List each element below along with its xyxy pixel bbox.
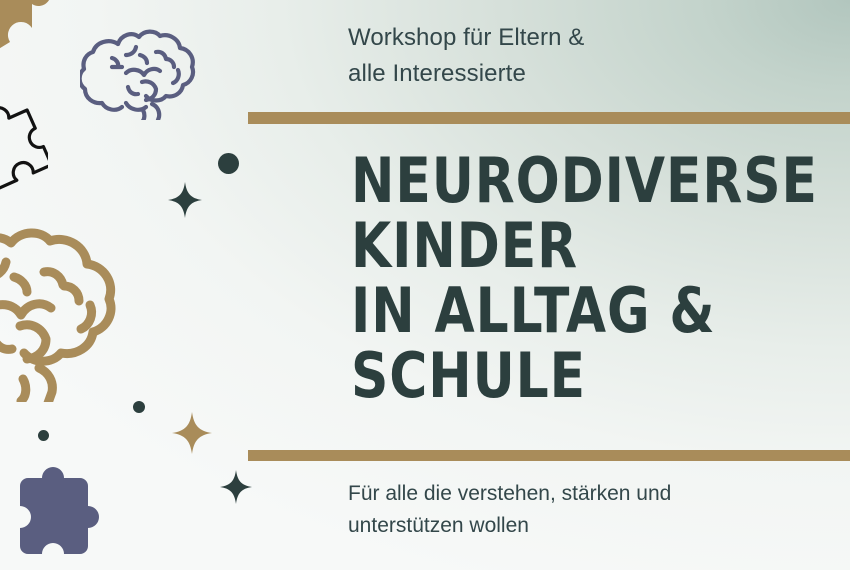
page-title: NEURODIVERSE KINDER IN ALLTAG & SCHULE [351, 148, 816, 408]
title-line-2: KINDER [351, 213, 816, 278]
title-line-1: NEURODIVERSE [351, 148, 816, 213]
eyebrow-line-1: Workshop für Eltern & [348, 20, 768, 56]
eyebrow-text: Workshop für Eltern & alle Interessierte [348, 20, 768, 92]
subtitle-line-1: Für alle die verstehen, stärken und [348, 478, 788, 510]
brain-outline-purple [80, 22, 210, 120]
poster-canvas: Workshop für Eltern & alle Interessierte… [0, 0, 850, 570]
sparkle-gold [172, 412, 212, 454]
sparkle-dark-teal-upper [168, 182, 202, 218]
dot-dark-teal-large [218, 153, 239, 174]
sparkle-dark-teal-lower [220, 470, 252, 504]
puzzle-piece-outline-dark [0, 104, 48, 196]
dot-dark-teal-small [133, 401, 145, 413]
title-line-4: SCHULE [351, 343, 816, 408]
content-column: Workshop für Eltern & alle Interessierte… [348, 0, 850, 570]
puzzle-piece-gold-corner [0, 0, 70, 58]
eyebrow-line-2: alle Interessierte [348, 56, 768, 92]
dot-dark-teal-tiny [38, 430, 49, 441]
subtitle-line-2: unterstützen wollen [348, 510, 788, 542]
title-line-3: IN ALLTAG & [351, 278, 816, 343]
puzzle-piece-purple-solid [8, 460, 112, 562]
brain-outline-gold-large [0, 216, 148, 402]
subtitle-text: Für alle die verstehen, stärken und unte… [348, 478, 788, 542]
